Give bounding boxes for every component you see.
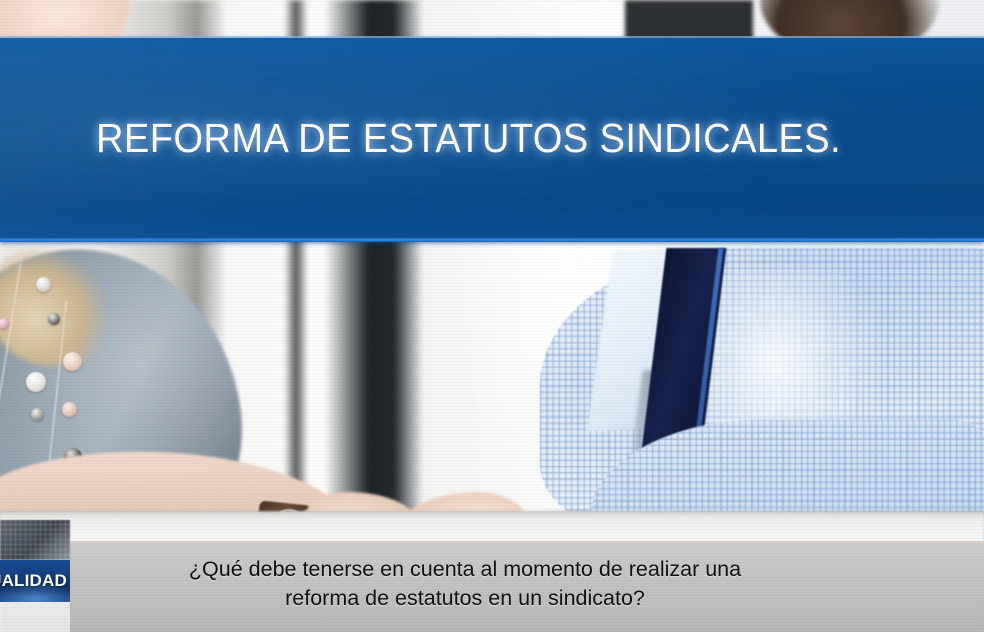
caption-line-1: ¿Qué debe tenerse en cuenta al momento d… xyxy=(70,555,860,584)
necklace-bead xyxy=(62,402,77,417)
necklace-bead xyxy=(36,277,51,292)
section-badge: UALIDAD xyxy=(0,560,70,602)
woman-hair xyxy=(0,246,108,366)
necklace-bead xyxy=(26,372,46,392)
badge-backdrop xyxy=(0,520,70,560)
caption-line-2: reforma de estatutos en un sindicato? xyxy=(70,584,860,613)
banner-accent-line xyxy=(0,238,984,242)
title-banner: REFORMA DE ESTATUTOS SINDICALES. xyxy=(0,38,984,238)
caption-text: ¿Qué debe tenerse en cuenta al momento d… xyxy=(70,555,860,613)
page-title: REFORMA DE ESTATUTOS SINDICALES. xyxy=(96,38,841,238)
necklace-bead xyxy=(63,352,82,371)
necklace-bead xyxy=(48,313,60,325)
caption-bar: ¿Qué debe tenerse en cuenta al momento d… xyxy=(70,541,984,632)
necklace-bead xyxy=(31,408,44,421)
section-badge-label: UALIDAD xyxy=(0,571,70,591)
video-frame: REFORMA DE ESTATUTOS SINDICALES. ¿Qué de… xyxy=(0,0,984,632)
